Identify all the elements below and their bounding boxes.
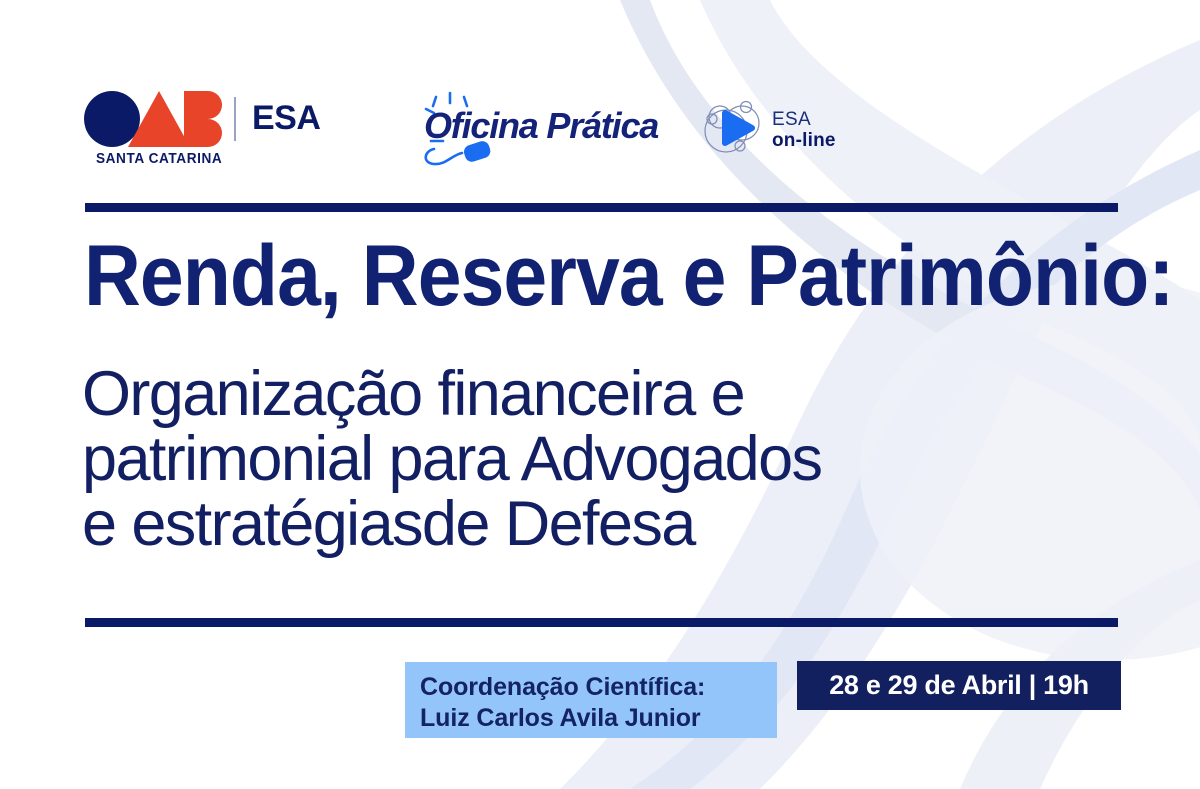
subtitle-line-3: e estratégiasde Defesa bbox=[82, 492, 1172, 557]
oficina-pratica-text: Oficina Prática bbox=[424, 105, 658, 147]
play-button-circles-icon bbox=[698, 97, 770, 163]
esa-online-line2: on-line bbox=[772, 130, 836, 151]
date-badge-text: 28 e 29 de Abril | 19h bbox=[829, 670, 1089, 701]
oab-triangle-a-icon bbox=[128, 91, 190, 147]
oab-b-icon bbox=[184, 91, 222, 147]
oab-santa-catarina-logo: SANTA CATARINA ESA bbox=[84, 91, 304, 169]
oficina-pratica-logo: Oficina Prática bbox=[416, 91, 668, 169]
esa-online-line1: ESA bbox=[772, 109, 836, 130]
event-poster: SANTA CATARINA ESA Oficina Prática bbox=[0, 0, 1200, 789]
esa-online-logo: ESA on-line bbox=[698, 91, 858, 169]
page-title: Renda, Reserva e Patrimônio: bbox=[84, 236, 1063, 317]
coordination-label: Coordenação Científica: bbox=[420, 672, 777, 703]
esa-online-text: ESA on-line bbox=[772, 109, 836, 152]
subtitle-line-1: Organização financeira e bbox=[82, 362, 1172, 427]
divider-rule-top bbox=[85, 203, 1118, 212]
page-subtitle: Organização financeira e patrimonial par… bbox=[82, 362, 1172, 557]
date-badge: 28 e 29 de Abril | 19h bbox=[797, 661, 1121, 710]
logo-divider bbox=[234, 97, 236, 141]
oab-state-label: SANTA CATARINA bbox=[96, 151, 222, 167]
coordinator-name: Luiz Carlos Avila Junior bbox=[420, 703, 777, 734]
oab-letters-mark bbox=[84, 91, 222, 151]
subtitle-line-2: patrimonial para Advogados bbox=[82, 427, 1172, 492]
coordination-badge: Coordenação Científica: Luiz Carlos Avil… bbox=[405, 662, 777, 738]
logo-strip: SANTA CATARINA ESA Oficina Prática bbox=[84, 88, 858, 172]
divider-rule-bottom bbox=[85, 618, 1118, 627]
esa-wordmark: ESA bbox=[252, 99, 320, 138]
